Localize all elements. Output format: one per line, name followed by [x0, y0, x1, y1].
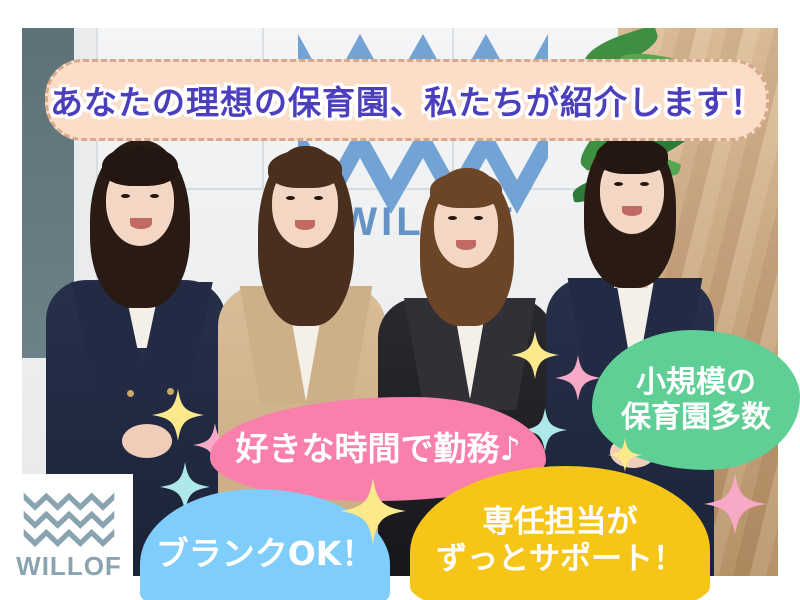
sparkle-icon — [511, 331, 559, 379]
poster-canvas: WILLOF — [0, 0, 800, 600]
blob-yellow-line-1: 専任担当が — [436, 504, 684, 541]
sparkle-icon — [608, 438, 642, 472]
headline-banner: あなたの理想の保育園、私たちが紹介します！ — [45, 59, 769, 141]
sparkle-icon — [704, 473, 766, 535]
blob-green-line-2: 保育園多数 — [621, 400, 771, 435]
willof-zigzag-icon — [23, 489, 115, 547]
willof-wordmark: WILLOF — [16, 551, 122, 582]
blob-yellow-line-2: ずっとサポート！ — [436, 541, 684, 578]
blob-green-line-1: 小規模の — [621, 365, 771, 400]
blob-pink-line-1: 好きな時間で勤務♪ — [235, 430, 520, 469]
headline-text: あなたの理想の保育園、私たちが紹介します！ — [50, 76, 764, 124]
willof-logo: WILLOF — [5, 474, 133, 596]
sparkle-icon — [340, 478, 406, 544]
